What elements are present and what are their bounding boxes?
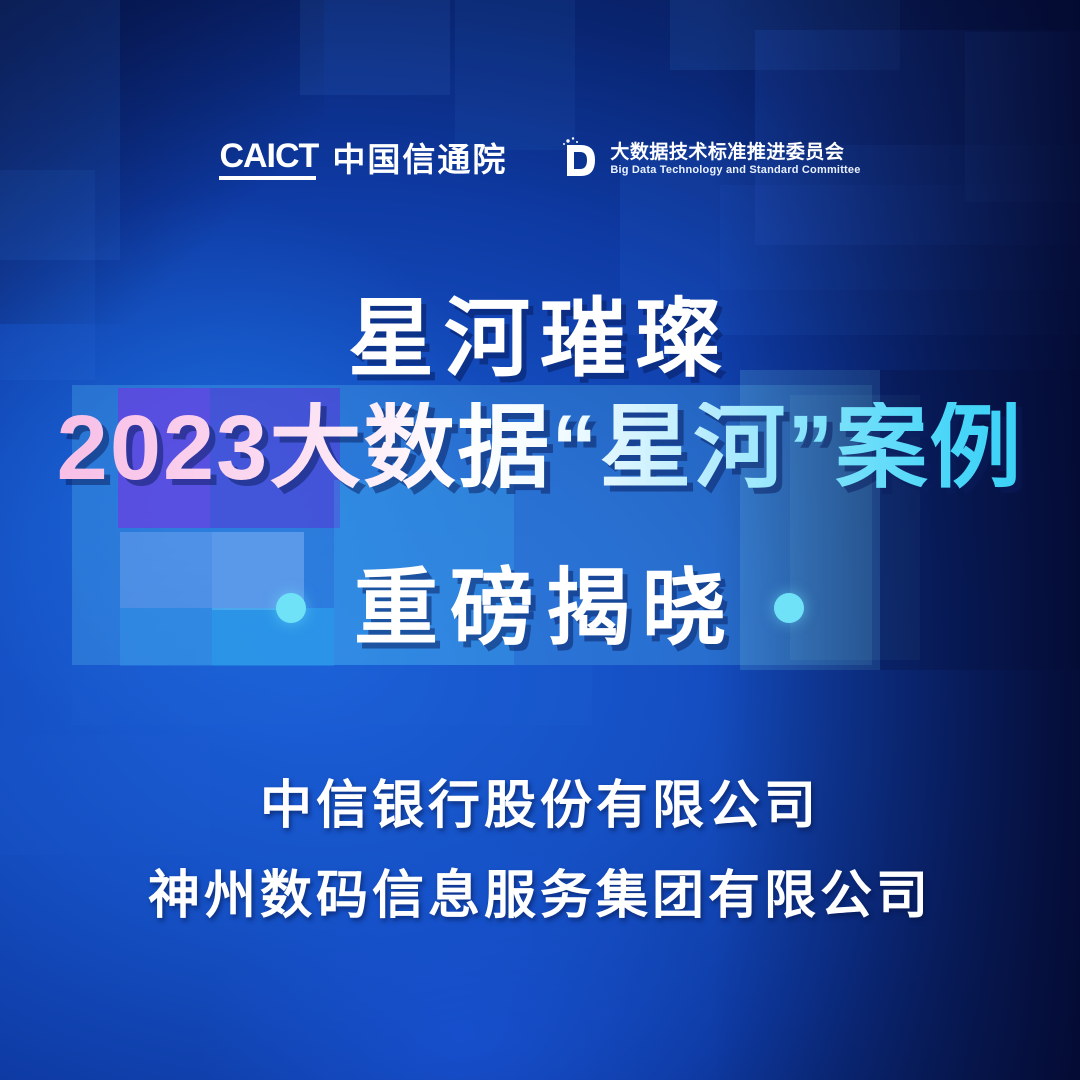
bdc-name-cn: 大数据技术标准推进委员会 (610, 143, 860, 162)
headline-line-2: 2023大数据“星河”案例 (0, 402, 1080, 494)
big-data-committee-text: 大数据技术标准推进委员会 Big Data Technology and Sta… (610, 143, 860, 176)
awardee-name-text: 中信银行股份有限公司 (260, 777, 820, 835)
awardee-name: 神州数码信息服务集团有限公司 (132, 862, 948, 930)
headline-line-1: 星河璀璨 (0, 296, 1080, 382)
awardee-list: 中信银行股份有限公司 神州数码信息服务集团有限公司 (0, 772, 1080, 930)
caict-name-cn: 中国信通院 (332, 143, 507, 176)
big-data-committee-logo: 大数据技术标准推进委员会 Big Data Technology and Sta… (559, 136, 860, 182)
letter-d-sparkle-icon (559, 136, 599, 182)
poster-content: CAICT 中国信通院 大数据技术标准推进委员会 (0, 0, 1080, 1080)
bullet-dot-icon-right (774, 593, 804, 623)
headline-line-3-row: 重磅揭晓 (0, 566, 1080, 650)
headline-line-2-wrapper: 2023大数据“星河”案例 2023大数据“星河”案例 (0, 402, 1080, 494)
awardee-name: 中信银行股份有限公司 (244, 772, 836, 840)
headline-line-3: 重磅揭晓 (342, 566, 738, 650)
poster-canvas: CAICT 中国信通院 大数据技术标准推进委员会 (0, 0, 1080, 1080)
awardee-name-text: 神州数码信息服务集团有限公司 (148, 867, 932, 925)
caict-wordmark-text: CAICT (219, 137, 318, 175)
caict-logo: CAICT 中国信通院 (219, 139, 507, 180)
caict-underline-icon (219, 176, 316, 180)
bullet-dot-icon-left (276, 593, 306, 623)
logo-row: CAICT 中国信通院 大数据技术标准推进委员会 (0, 136, 1080, 182)
bdc-name-en: Big Data Technology and Standard Committ… (610, 165, 860, 176)
caict-wordmark: CAICT (219, 139, 318, 180)
